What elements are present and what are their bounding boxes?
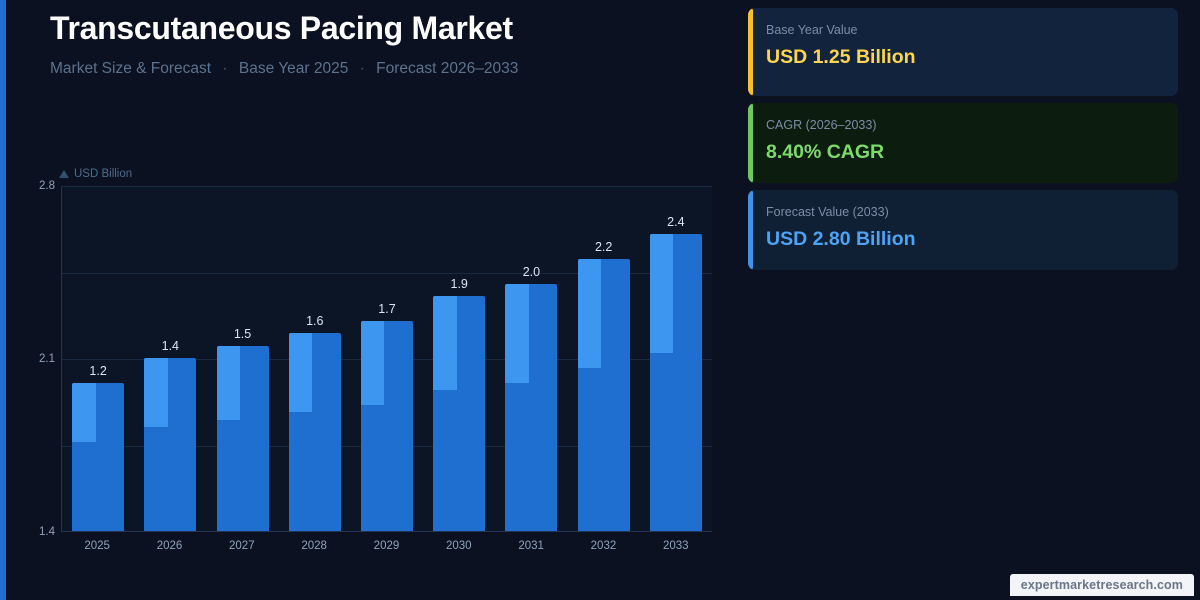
page-title: Transcutaneous Pacing Market [50,8,740,50]
bar[interactable]: 1.5 [217,346,269,531]
bar-slot: 1.6 [279,186,351,531]
bar-highlight [578,259,601,368]
card-label: Base Year Value [766,22,1162,38]
bar[interactable]: 2.4 [650,234,702,531]
bar-slot: 2.2 [568,186,640,531]
bar-slot: 1.5 [206,186,278,531]
subtitle-part-1: Base Year 2025 [239,60,348,77]
x-axis-labels: 202520262027202820292030203120322033 [61,540,712,552]
y-axis-tick: 2.8 [39,180,55,192]
left-accent-stripe [0,0,6,600]
bar-slot: 1.9 [423,186,495,531]
chart-page: Transcutaneous Pacing Market Market Size… [0,0,1200,600]
bar-value-label: 1.5 [234,327,251,341]
bar-value-label: 1.9 [451,277,468,291]
y-axis-tick: 2.1 [39,353,55,365]
card-value: USD 2.80 Billion [766,226,1162,252]
bar-slot: 1.2 [62,186,134,531]
bar-value-label: 2.0 [523,265,540,279]
x-axis-tick: 2033 [640,540,712,552]
x-axis-tick: 2026 [133,540,205,552]
metric-card[interactable]: CAGR (2026–2033)8.40% CAGR [748,103,1178,183]
y-axis-tick: 1.4 [39,526,55,538]
y-axis-label-group: USD Billion [59,168,132,180]
bar-value-label: 1.4 [162,339,179,353]
y-axis-label: USD Billion [74,168,132,180]
bar-value-label: 2.2 [595,240,612,254]
subtitle-separator: · [215,60,234,77]
metric-cards: Base Year ValueUSD 1.25 BillionCAGR (202… [748,8,1178,277]
bar[interactable]: 2.0 [505,284,557,531]
x-axis-tick: 2028 [278,540,350,552]
bar-value-label: 1.7 [378,302,395,316]
bar-highlight [289,333,312,412]
x-axis-tick: 2025 [61,540,133,552]
metric-card[interactable]: Base Year ValueUSD 1.25 Billion [748,8,1178,96]
bar[interactable]: 1.4 [144,358,196,531]
bar-highlight [144,358,167,427]
bar[interactable]: 2.2 [578,259,630,531]
x-axis-tick: 2030 [423,540,495,552]
x-axis-tick: 2029 [350,540,422,552]
subtitle-separator: · [353,60,372,77]
card-value: USD 1.25 Billion [766,44,1162,70]
bar-series: 1.21.41.51.61.71.92.02.22.4 [62,186,712,531]
bar-highlight [650,234,673,353]
metric-card[interactable]: Forecast Value (2033)USD 2.80 Billion [748,190,1178,270]
bar-highlight [433,296,456,390]
bar-highlight [217,346,240,420]
header: Transcutaneous Pacing Market Market Size… [50,8,740,79]
bar-slot: 2.0 [495,186,567,531]
bar-slot: 2.4 [640,186,712,531]
bar[interactable]: 1.9 [433,296,485,531]
bar-slot: 1.4 [134,186,206,531]
bar[interactable]: 1.6 [289,333,341,531]
x-axis-tick: 2031 [495,540,567,552]
page-subtitle: Market Size & Forecast · Base Year 2025 … [50,59,740,79]
card-label: CAGR (2026–2033) [766,117,1162,133]
bar-chart: USD Billion 2.82.11.40.7 1.21.41.51.61.7… [26,168,726,568]
bar-value-label: 2.4 [667,215,684,229]
bar-value-label: 1.2 [89,364,106,378]
subtitle-part-0: Market Size & Forecast [50,60,211,77]
x-axis-tick: 2027 [206,540,278,552]
card-accent-bar [748,190,753,270]
card-value: 8.40% CAGR [766,139,1162,165]
x-axis-tick: 2032 [567,540,639,552]
bar[interactable]: 1.2 [72,383,124,531]
up-triangle-icon [59,170,69,178]
bar-slot: 1.7 [351,186,423,531]
card-label: Forecast Value (2033) [766,204,1162,220]
subtitle-part-2: Forecast 2026–2033 [376,60,518,77]
bar-highlight [361,321,384,405]
bar-highlight [72,383,95,442]
card-accent-bar [748,103,753,183]
bar-value-label: 1.6 [306,314,323,328]
bar[interactable]: 1.7 [361,321,413,531]
bar-highlight [505,284,528,383]
plot-area: 2.82.11.40.7 1.21.41.51.61.71.92.02.22.4 [61,186,712,532]
watermark: expertmarketresearch.com [1010,574,1194,596]
card-accent-bar [748,8,753,96]
